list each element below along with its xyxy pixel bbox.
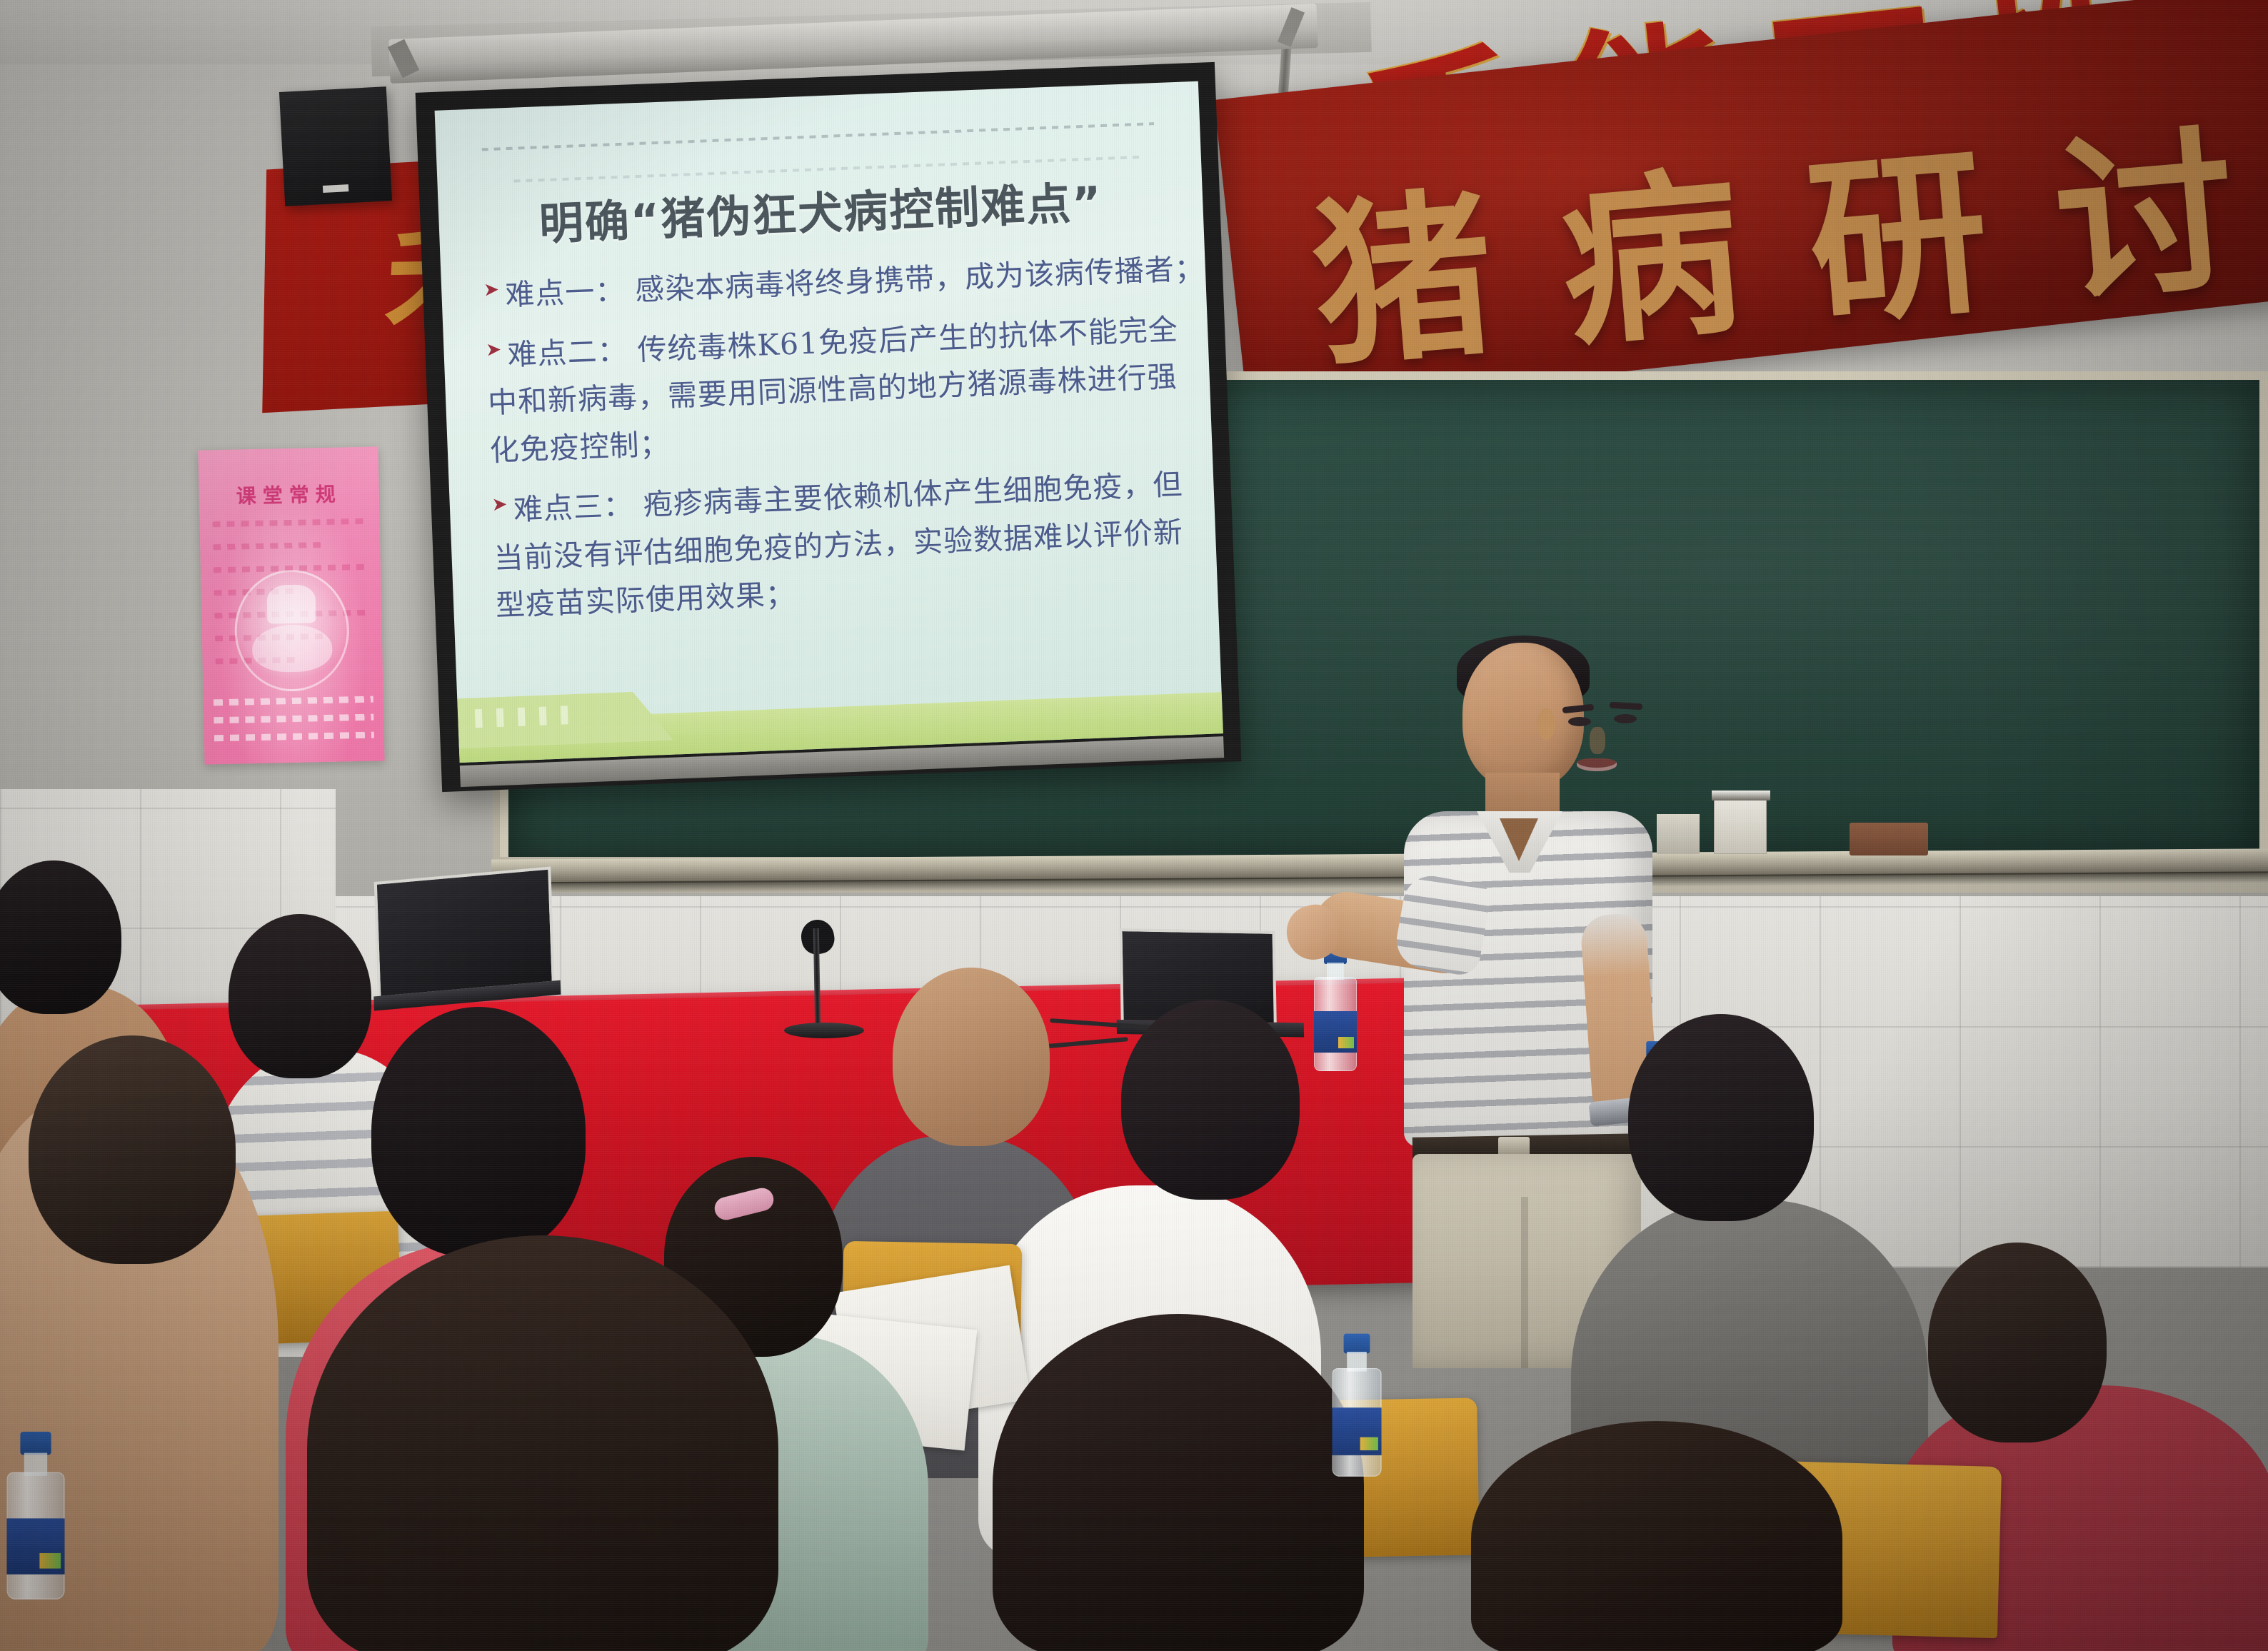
classroom-rules-poster: 课堂常规 [198,446,384,764]
presenter-eyebrow [1610,702,1642,710]
audience-head [29,1035,236,1264]
audience-head [1928,1243,2107,1442]
slide-footer-block [457,691,673,748]
blackboard-eraser [1850,823,1928,855]
laptop-left [374,866,561,1010]
poster-footer-line [214,732,374,742]
poster-line [213,542,321,550]
bottle-label [1314,1011,1357,1053]
audience-head-bald [893,968,1050,1146]
projected-slide: 明确“猪伪狂犬病控制难点” 难点一： 感染本病毒将终身携带，成为该病传播者； 难… [435,81,1223,763]
audience-head [307,1235,778,1651]
banner-char-1: 猪 [1273,182,1535,381]
speaker-vent [323,184,348,193]
banner-char-4: 讨 [2014,119,2268,318]
audience-head [371,1007,586,1257]
water-bottle [1333,1337,1382,1477]
banner-char-3: 研 [1767,140,2029,338]
wall-speaker-box [279,86,392,206]
bottle-label [7,1518,65,1574]
audience-head [993,1314,1364,1651]
bottle-cap [1344,1334,1370,1354]
presenter-eye [1568,717,1591,726]
water-bottle [1314,950,1357,1071]
audience-head [1121,1000,1300,1200]
bottle-cap [20,1432,51,1455]
projection-screen: 明确“猪伪狂犬病控制难点” 难点一： 感染本病毒将终身携带，成为该病传播者； 难… [416,62,1242,792]
presenter-head [1462,643,1584,790]
presenter-nose [1590,727,1605,754]
microphone-base [784,1023,864,1038]
banner-char-2: 病 [1520,161,1782,359]
presenter-eye [1614,714,1637,723]
poster-footer-line [214,714,373,724]
slide-decor-line [482,122,1154,151]
slide-body: 难点一： 感染本病毒将终身携带，成为该病传播者； 难点二： 传统毒株K61免疫后… [483,246,1191,630]
presenter-mouth [1577,758,1617,771]
poster-footer [214,696,375,753]
water-bottle [7,1435,65,1600]
photo-canvas: 千能万性材 猪 病 研 讨 禾 课堂常规 [0,0,2268,1651]
audience-head [1471,1421,1842,1651]
audience-head [1628,1014,1814,1221]
bottle-label [1333,1407,1382,1455]
laptop-screen [374,866,555,996]
chalk-box [1714,798,1767,854]
presenter-ear [1537,708,1555,740]
poster-title: 课堂常规 [199,478,379,510]
presenter-eyebrow [1562,704,1595,714]
poster-footer-line [214,696,373,706]
poster-line [213,518,367,528]
audience-head [229,914,371,1078]
